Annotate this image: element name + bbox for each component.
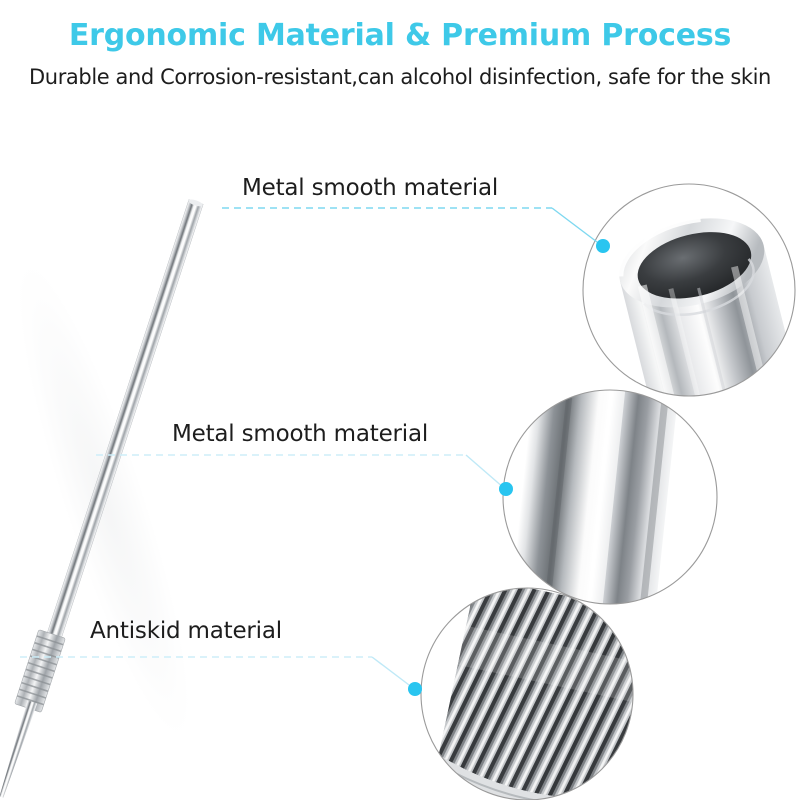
detail-circle-knurled-grip (421, 577, 660, 800)
product-rod (0, 198, 219, 798)
callout-leader-1 (552, 208, 601, 245)
callout-label-metal-smooth-top: Metal smooth material (242, 175, 498, 201)
callout-label-antiskid: Antiskid material (90, 618, 282, 644)
callout-dot-1 (596, 239, 610, 253)
callout-label-metal-smooth-middle: Metal smooth material (172, 421, 428, 447)
callout-dot-3 (408, 682, 422, 696)
product-illustration (0, 0, 800, 800)
callout-dot-2 (499, 482, 513, 496)
rod-tip (0, 700, 37, 798)
callout-leader-3 (372, 657, 413, 688)
callout-leader-2 (466, 455, 504, 488)
rod-grip-band (15, 630, 66, 713)
infographic-page: Ergonomic Material & Premium Process Dur… (0, 0, 800, 800)
